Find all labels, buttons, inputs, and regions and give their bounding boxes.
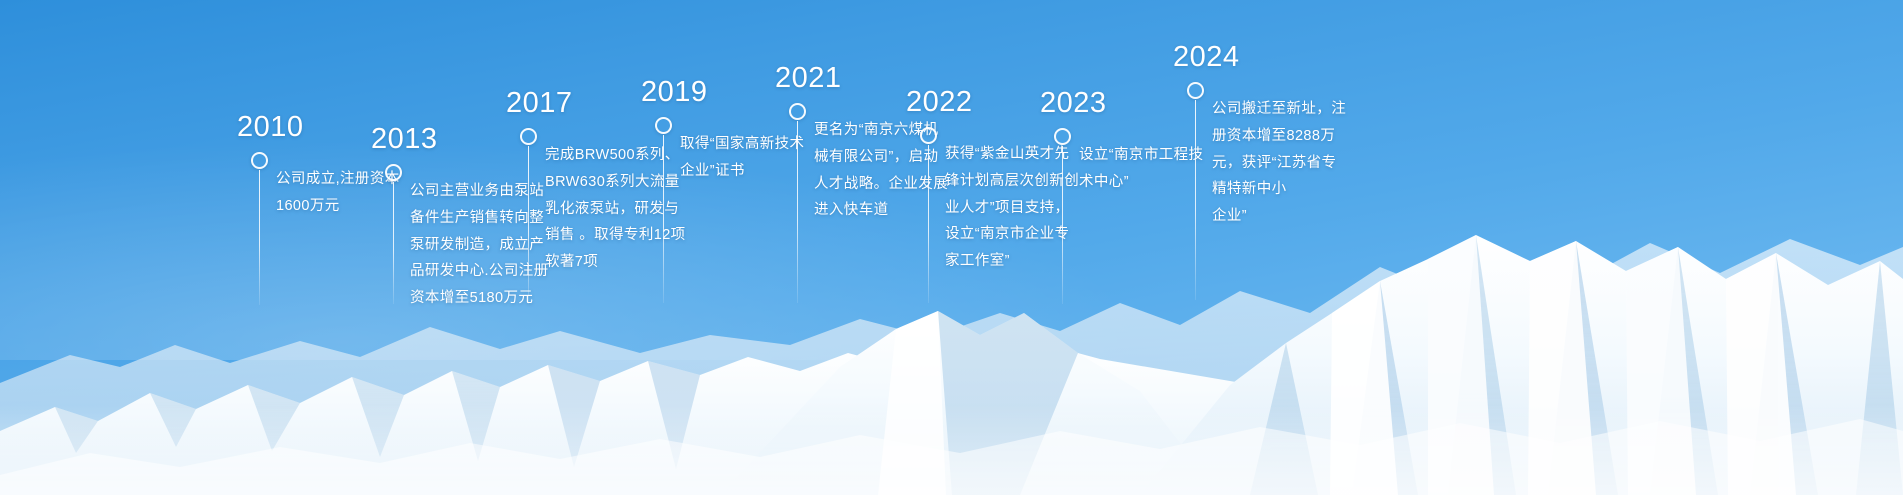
milestone-description-line: 公司搬迁至新址，注 <box>1212 96 1346 123</box>
milestone-stem-line <box>797 121 798 303</box>
milestone-dot-icon[interactable] <box>655 117 672 134</box>
milestone-description-line: 册资本增至8288万 <box>1212 123 1346 150</box>
milestone-description-line: 公司成立,注册资本 <box>276 166 400 193</box>
milestone-stem-line <box>393 182 394 304</box>
milestone-stem-line <box>528 146 529 304</box>
milestone-description: 设立“南京市工程技术中心” <box>1079 142 1203 196</box>
milestone-description-line: 业人才”项目支持， <box>945 195 1079 222</box>
milestone-description-line: 销售 。取得专利12项 <box>545 222 686 249</box>
milestone-stem-line <box>1195 100 1196 300</box>
milestone-dot-icon[interactable] <box>920 127 937 144</box>
milestone-stem-line <box>928 145 929 303</box>
milestone-description: 取得“国家高新技术企业”证书 <box>680 131 804 185</box>
milestone-dot-icon[interactable] <box>251 152 268 169</box>
milestone-description-line: 企业”证书 <box>680 158 804 185</box>
milestone-description-line: 锋计划高层次创新创 <box>945 168 1079 195</box>
milestone-stem-line <box>663 135 664 303</box>
milestone-description-line: 术中心” <box>1079 169 1203 196</box>
milestone-year-label: 2010 <box>237 113 304 142</box>
milestone-dot-icon[interactable] <box>1054 128 1071 145</box>
milestone-dot-icon[interactable] <box>520 128 537 145</box>
milestone-year-label: 2013 <box>371 125 438 154</box>
milestone-description-line: 软著7项 <box>545 249 686 276</box>
milestone-description-line: 取得“国家高新技术 <box>680 131 804 158</box>
milestone-dot-icon[interactable] <box>789 103 806 120</box>
milestone-description-line: BRW630系列大流量 <box>545 169 686 196</box>
milestone-description-line: 家工作室” <box>945 248 1079 275</box>
timeline-banner: 2010公司成立,注册资本1600万元2013公司主营业务由泵站备件生产销售转向… <box>0 0 1903 495</box>
milestone-description-line: 设立“南京市工程技 <box>1079 142 1203 169</box>
milestone-year-label: 2023 <box>1040 89 1107 118</box>
milestone-year-label: 2022 <box>906 88 973 117</box>
milestone-description-line: 乳化液泵站，研发与 <box>545 196 686 223</box>
valley-haze <box>0 405 1903 495</box>
milestone-dot-icon[interactable] <box>385 164 402 181</box>
milestone-description-line: 1600万元 <box>276 193 400 220</box>
milestone-description-line: 设立“南京市企业专 <box>945 221 1079 248</box>
milestone-dot-icon[interactable] <box>1187 82 1204 99</box>
milestone-description: 公司搬迁至新址，注册资本增至8288万元，获评“江苏省专精特新中小企业” <box>1212 96 1346 230</box>
milestone-stem-line <box>1062 146 1063 304</box>
milestone-description-line: 获得“紫金山英才先 <box>945 141 1079 168</box>
milestone-year-label: 2021 <box>775 64 842 93</box>
milestone-year-label: 2019 <box>641 78 708 107</box>
milestone-description: 完成BRW500系列、BRW630系列大流量乳化液泵站，研发与销售 。取得专利1… <box>545 142 686 276</box>
milestone-description-line: 企业” <box>1212 203 1346 230</box>
milestone-year-label: 2024 <box>1173 43 1240 72</box>
milestone-description: 公司成立,注册资本1600万元 <box>276 166 400 220</box>
milestone-description-line: 完成BRW500系列、 <box>545 142 686 169</box>
milestone-year-label: 2017 <box>506 89 573 118</box>
milestone-description: 获得“紫金山英才先锋计划高层次创新创业人才”项目支持，设立“南京市企业专家工作室… <box>945 141 1079 275</box>
milestone-stem-line <box>259 170 260 305</box>
milestone-description-line: 精特新中小 <box>1212 176 1346 203</box>
milestone-description-line: 元，获评“江苏省专 <box>1212 150 1346 177</box>
